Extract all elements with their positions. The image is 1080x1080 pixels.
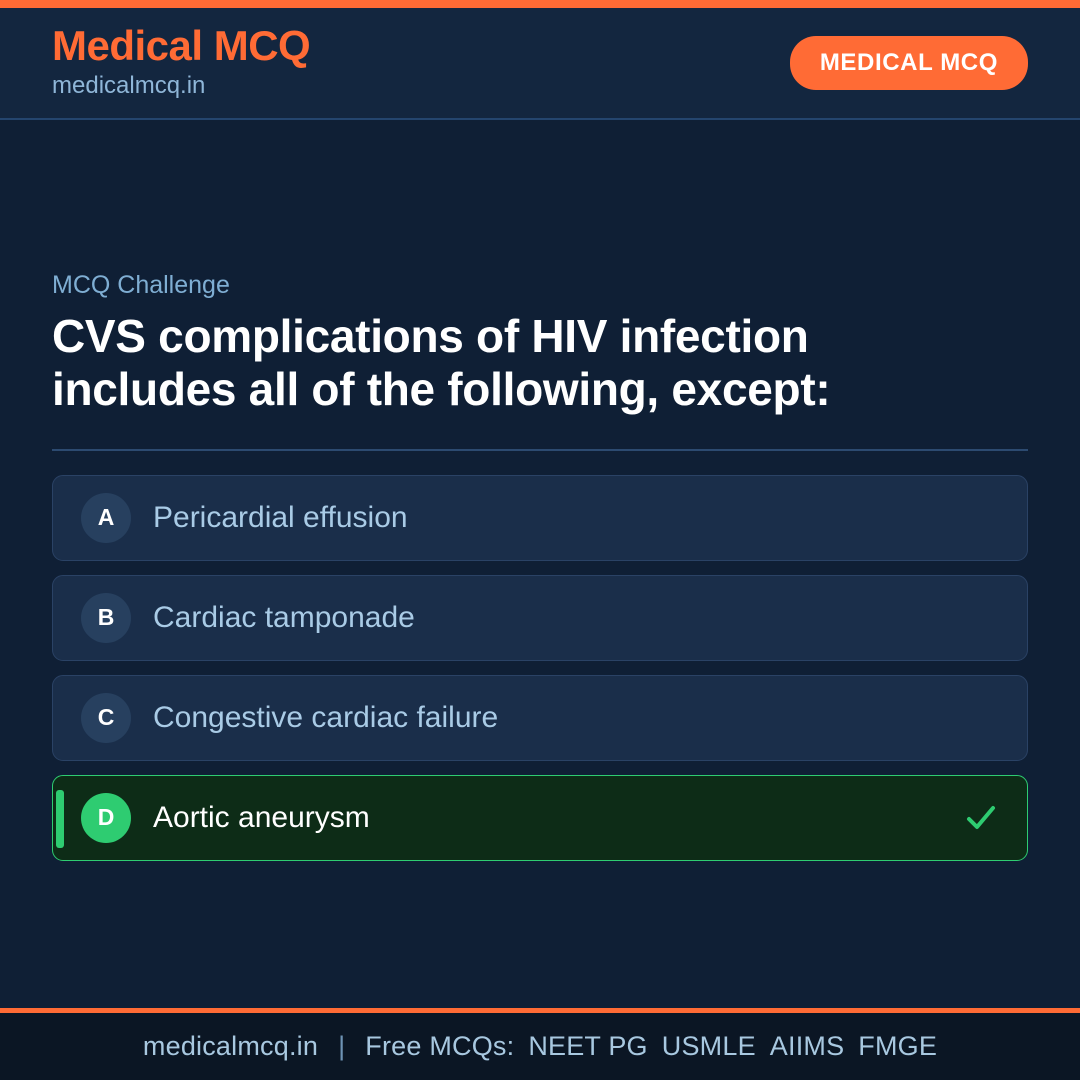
mcq-slide: Medical MCQ medicalmcq.in MEDICAL MCQ MC…: [0, 0, 1080, 1080]
correct-accent-bar: [56, 790, 64, 848]
check-icon: [963, 800, 999, 836]
top-accent-bar: [0, 0, 1080, 8]
option-c[interactable]: C Congestive cardiac failure: [52, 675, 1028, 761]
brand-title: Medical MCQ: [52, 24, 310, 68]
brand-subtitle: medicalmcq.in: [52, 70, 310, 102]
main-content: MCQ Challenge CVS complications of HIV i…: [0, 120, 1080, 1008]
option-d-badge: D: [81, 793, 131, 843]
footer: medicalmcq.in | Free MCQs: NEET PG USMLE…: [0, 1008, 1080, 1080]
footer-label: Free MCQs:: [365, 1031, 514, 1062]
eyebrow-label: MCQ Challenge: [52, 270, 1028, 300]
header-badge: MEDICAL MCQ: [790, 36, 1028, 90]
exam-tag-neet-pg: NEET PG: [528, 1031, 647, 1062]
brand: Medical MCQ medicalmcq.in: [52, 24, 310, 102]
footer-site: medicalmcq.in: [143, 1031, 318, 1062]
question-text: CVS complications of HIV infection inclu…: [52, 310, 882, 417]
option-d[interactable]: D Aortic aneurysm: [52, 775, 1028, 861]
option-c-label: Congestive cardiac failure: [153, 700, 999, 736]
exam-tag-fmge: FMGE: [858, 1031, 937, 1062]
footer-text: medicalmcq.in | Free MCQs: NEET PG USMLE…: [143, 1031, 937, 1062]
exam-tag-aiims: AIIMS: [770, 1031, 845, 1062]
option-a-label: Pericardial effusion: [153, 500, 999, 536]
options-list: A Pericardial effusion B Cardiac tampona…: [52, 475, 1028, 861]
exam-tag-usmle: USMLE: [662, 1031, 756, 1062]
footer-separator: |: [338, 1031, 345, 1062]
option-d-label: Aortic aneurysm: [153, 800, 963, 836]
option-a[interactable]: A Pericardial effusion: [52, 475, 1028, 561]
option-c-badge: C: [81, 693, 131, 743]
option-a-badge: A: [81, 493, 131, 543]
option-b-label: Cardiac tamponade: [153, 600, 999, 636]
option-b-badge: B: [81, 593, 131, 643]
option-b[interactable]: B Cardiac tamponade: [52, 575, 1028, 661]
header: Medical MCQ medicalmcq.in MEDICAL MCQ: [0, 8, 1080, 120]
question-divider: [52, 449, 1028, 451]
